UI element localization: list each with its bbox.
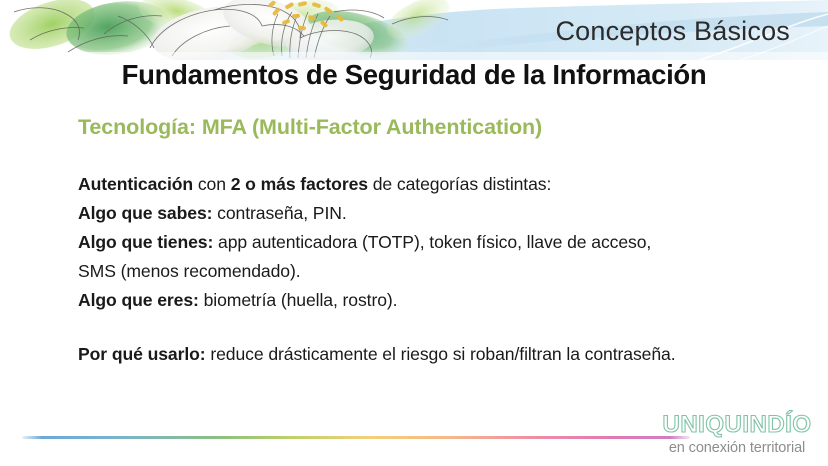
- body-line-2: Algo que sabes: contraseña, PIN.: [78, 199, 768, 228]
- rationale-line: Por qué usarlo: reduce drásticamente el …: [78, 340, 738, 369]
- body-line-3-lead: Algo que tienes:: [78, 232, 213, 252]
- body-line-1-mid: con: [193, 174, 231, 194]
- body-line-4: SMS (menos recomendado).: [78, 257, 768, 286]
- body-line-1-emph: 2 o más factores: [231, 174, 368, 194]
- body-line-1: Autenticación con 2 o más factores de ca…: [78, 170, 768, 199]
- body-line-5: Algo que eres: biometría (huella, rostro…: [78, 286, 768, 315]
- body-line-1-tail: de categorías distintas:: [368, 174, 551, 194]
- body-line-3: Algo que tienes: app autenticadora (TOTP…: [78, 228, 768, 257]
- slide-header: Conceptos Básicos: [0, 0, 828, 60]
- body-line-2-tail: contraseña, PIN.: [212, 203, 346, 223]
- page-title: Fundamentos de Seguridad de la Informaci…: [0, 58, 828, 92]
- institution-logo: UNIQUINDÍO en conexión territorial: [662, 412, 812, 457]
- body-line-1-lead: Autenticación: [78, 174, 193, 194]
- section-subtitle: Tecnología: MFA (Multi-Factor Authentica…: [78, 114, 542, 141]
- logo-wordmark: UNIQUINDÍO: [662, 412, 812, 438]
- body-text-block: Autenticación con 2 o más factores de ca…: [78, 170, 768, 315]
- body-line-4-tail: SMS (menos recomendado).: [78, 261, 301, 281]
- body-line-2-lead: Algo que sabes:: [78, 203, 212, 223]
- body-line-5-tail: biometría (huella, rostro).: [199, 290, 398, 310]
- slide-canvas: Conceptos Básicos Fundamentos de Segurid…: [0, 0, 828, 466]
- rationale-paragraph: Por qué usarlo: reduce drásticamente el …: [78, 340, 738, 369]
- rationale-text: reduce drásticamente el riesgo si roban/…: [206, 344, 676, 364]
- section-label: Conceptos Básicos: [555, 15, 790, 48]
- body-line-3-tail: app autenticadora (TOTP), token físico, …: [213, 232, 651, 252]
- footer-gradient-rule: [22, 436, 690, 439]
- logo-tagline: en conexión territorial: [662, 439, 812, 457]
- rationale-lead: Por qué usarlo:: [78, 344, 206, 364]
- body-line-5-lead: Algo que eres:: [78, 290, 199, 310]
